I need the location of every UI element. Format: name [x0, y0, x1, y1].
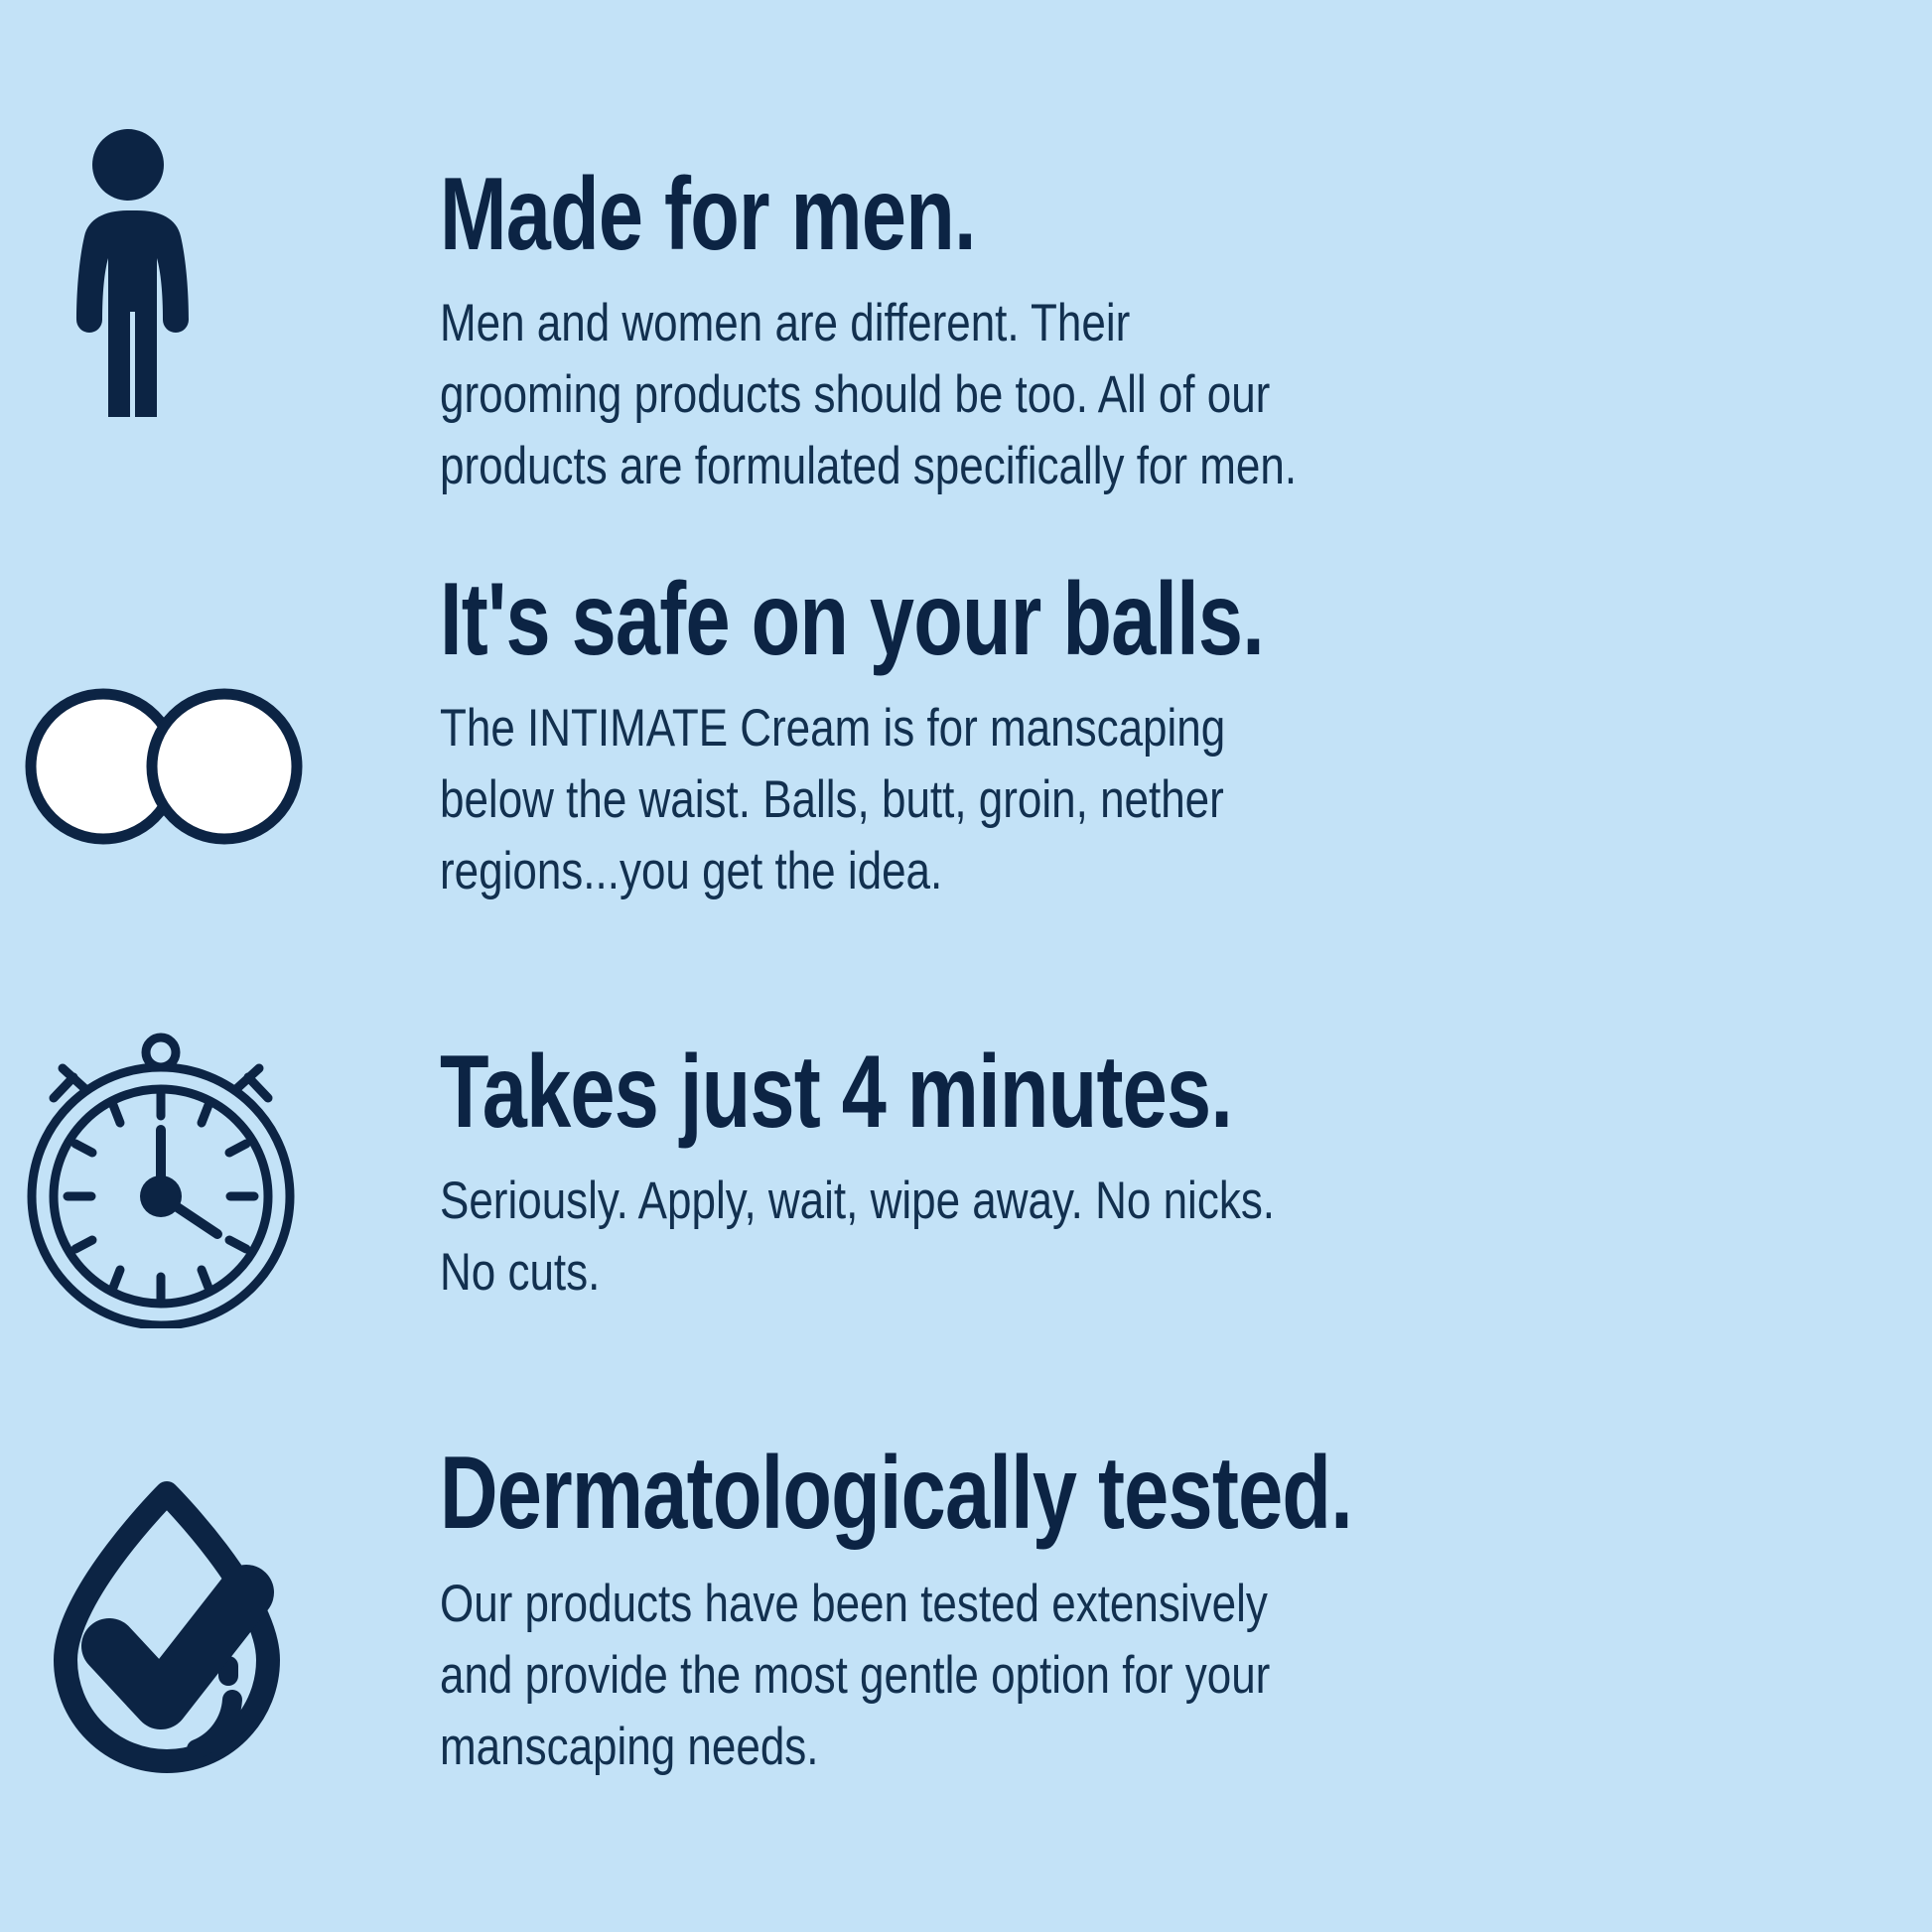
- feature-description: Seriously. Apply, wait, wipe away. No ni…: [440, 1166, 1676, 1309]
- feature-text-block: Takes just 4 minutes. Seriously. Apply, …: [440, 1040, 1929, 1309]
- feature-title: Made for men.: [440, 163, 1601, 266]
- feature-title: Dermatologically tested.: [440, 1442, 1601, 1545]
- droplet-checkmark-icon: [44, 1475, 292, 1773]
- feature-description: The INTIMATE Cream is for manscaping bel…: [440, 693, 1676, 907]
- feature-title: Takes just 4 minutes.: [440, 1040, 1601, 1144]
- infographic-canvas: Made for men. Men and women are differen…: [0, 0, 1932, 1932]
- person-standing-icon: [71, 129, 210, 417]
- feature-description: Our products have been tested extensivel…: [440, 1569, 1676, 1783]
- feature-title: It's safe on your balls.: [440, 568, 1601, 671]
- feature-text-block: Made for men. Men and women are differen…: [440, 163, 1929, 502]
- two-overlapping-circles-icon: [18, 677, 316, 856]
- feature-text-block: It's safe on your balls. The INTIMATE Cr…: [440, 568, 1929, 907]
- stopwatch-icon: [16, 1031, 304, 1328]
- feature-description: Men and women are different. Their groom…: [440, 288, 1676, 502]
- feature-text-block: Dermatologically tested. Our products ha…: [440, 1442, 1929, 1783]
